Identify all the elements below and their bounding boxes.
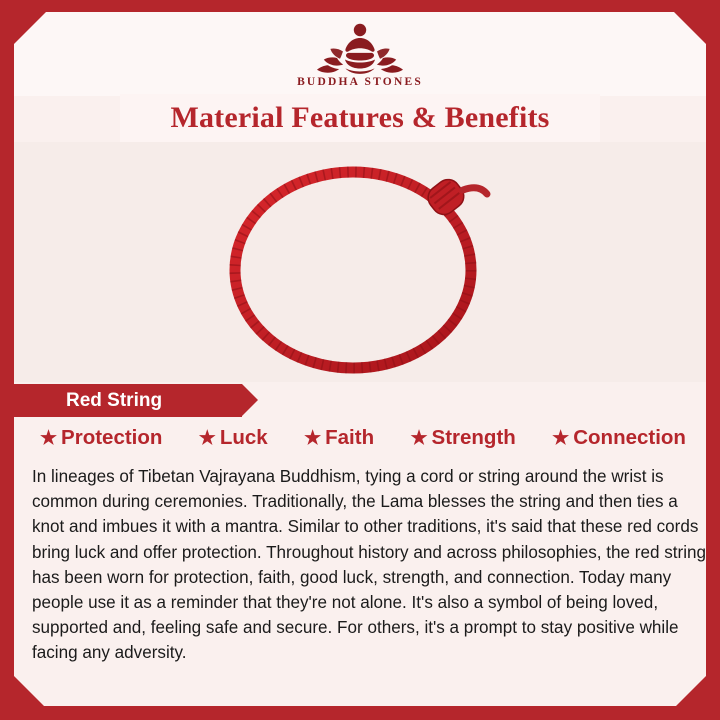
frame-top-bar [0,0,720,12]
frame-left-bar [0,0,14,720]
keyword-label: Protection [61,426,162,450]
inner-panel: BUDDHA STONES Material Features & Benefi… [14,12,706,706]
keyword-list: ★ Protection ★ Luck ★ Faith ★ Strength ★… [40,426,686,450]
keyword-item-luck: ★ Luck [199,426,268,450]
star-icon: ★ [304,429,321,448]
lotus-meditation-figure-icon [14,18,706,74]
star-icon: ★ [40,429,57,448]
star-icon: ★ [199,429,216,448]
star-icon: ★ [410,429,427,448]
infographic-page: BUDDHA STONES Material Features & Benefi… [0,0,720,720]
corner-decoration-bottom-left [0,662,58,720]
star-icon: ★ [552,429,569,448]
product-label-ribbon: Red String [14,384,242,417]
brand-name: BUDDHA STONES [14,76,706,88]
frame-bottom-bar [0,706,720,720]
corner-decoration-top-left [0,0,58,58]
keyword-item-faith: ★ Faith [304,426,374,450]
corner-decoration-bottom-right [662,662,720,720]
title-band: Material Features & Benefits [120,94,600,142]
keyword-label: Strength [432,426,516,450]
keyword-item-strength: ★ Strength [410,426,515,450]
keyword-item-connection: ★ Connection [552,426,686,450]
brand-block: BUDDHA STONES [14,18,706,88]
ribbon-label: Red String [14,390,162,412]
description-paragraph: In lineages of Tibetan Vajrayana Buddhis… [24,464,716,666]
keyword-label: Connection [573,426,686,450]
product-image [14,142,706,382]
corner-decoration-top-right [662,0,720,58]
page-title: Material Features & Benefits [170,101,549,135]
keyword-label: Faith [325,426,374,450]
keyword-label: Luck [220,426,268,450]
keyword-item-protection: ★ Protection [40,426,162,450]
